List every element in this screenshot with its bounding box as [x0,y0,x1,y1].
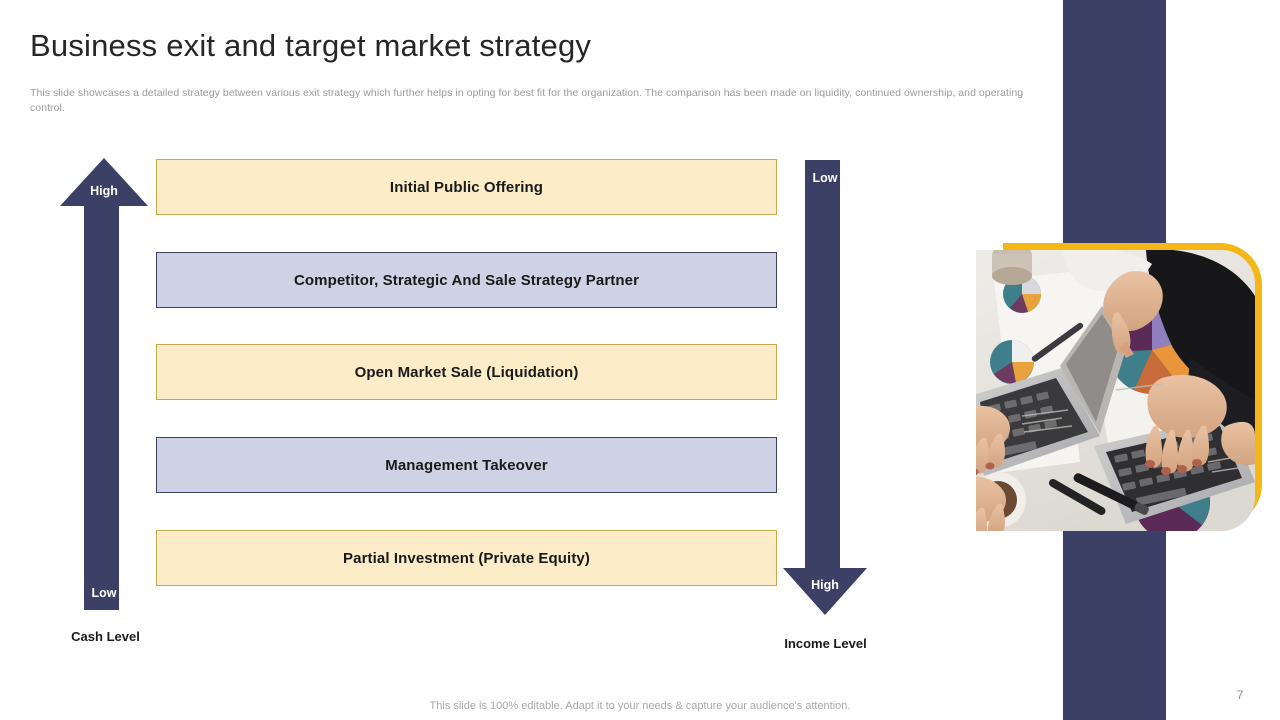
footer-note: This slide is 100% editable. Adapt it to… [300,700,980,712]
income-level-low-label: Low [783,171,867,185]
strategy-box-initial-public-offering[interactable]: Initial Public Offering [156,159,777,215]
cash-level-arrow-up: High Low [60,158,148,610]
arrow-up-shaft [84,204,119,610]
cash-level-low-label: Low [60,586,148,600]
income-level-caption: Income Level [768,636,883,651]
income-level-high-label: High [783,578,867,592]
page-number: 7 [1228,688,1252,702]
strategy-box-competitor-strategic-sale[interactable]: Competitor, Strategic And Sale Strategy … [156,252,777,308]
strategy-box-partial-investment[interactable]: Partial Investment (Private Equity) [156,530,777,586]
business-team-photo [976,250,1255,531]
income-level-arrow-down: Low High [783,160,867,615]
page-title: Business exit and target market strategy [30,28,591,64]
strategy-box-management-takeover[interactable]: Management Takeover [156,437,777,493]
arrow-down-shaft [805,160,840,570]
cash-level-caption: Cash Level [48,629,163,644]
strategy-box-open-market-sale[interactable]: Open Market Sale (Liquidation) [156,344,777,400]
arrow-up-head-icon [60,158,148,206]
page-subtitle: This slide showcases a detailed strategy… [30,86,1025,116]
slide-canvas: Business exit and target market strategy… [0,0,1280,720]
cash-level-high-label: High [60,184,148,198]
